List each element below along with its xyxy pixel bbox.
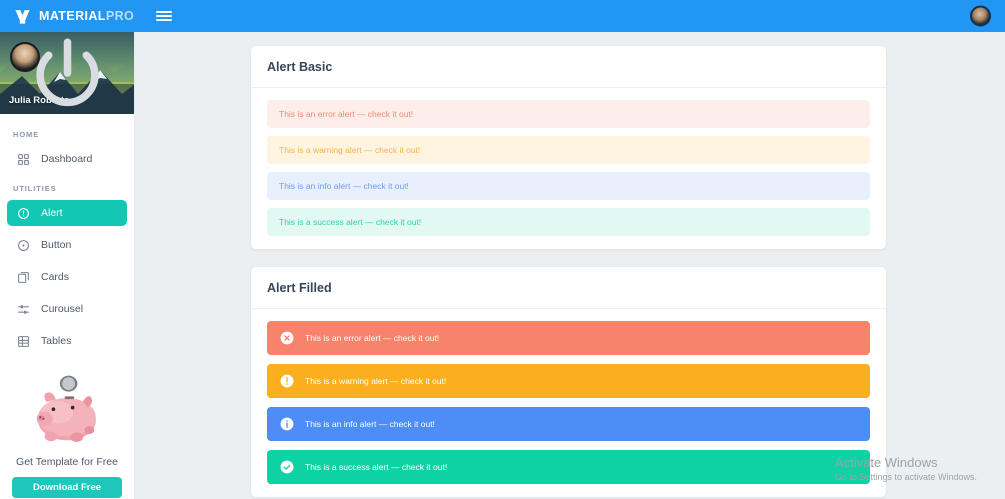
dashboard-grid-icon (17, 153, 30, 166)
sidebar-item-label: Dashboard (41, 153, 92, 165)
alert-basic-info: This is an info alert — check it out! (267, 172, 870, 200)
alert-text: This is an error alert — check it out! (305, 333, 439, 343)
sidebar-item-button[interactable]: Button (7, 232, 127, 258)
alert-filled-warning: This is a warning alert — check it out! (267, 364, 870, 398)
sidebar: Julia Roberts HOME Dashboard UTILITIES (0, 32, 135, 499)
button-circle-icon (17, 239, 30, 252)
nav-section-label-home: HOME (7, 124, 127, 146)
brand-name-light: PRO (106, 9, 134, 23)
top-header: MATERIALPRO (0, 0, 1005, 32)
alert-filled-success: This is a success alert — check it out! (267, 450, 870, 484)
table-grid-icon (17, 335, 30, 348)
sidebar-item-alert[interactable]: Alert (7, 200, 127, 226)
error-x-circle-icon (280, 331, 294, 345)
warning-exclamation-circle-icon (280, 374, 294, 388)
brand[interactable]: MATERIALPRO (14, 8, 134, 25)
sidebar-item-dashboard[interactable]: Dashboard (7, 146, 127, 172)
sidebar-item-cards[interactable]: Cards (7, 264, 127, 290)
sidebar-item-label: Cards (41, 271, 69, 283)
sidebar-item-label: Alert (41, 207, 63, 219)
alert-basic-warning: This is a warning alert — check it out! (267, 136, 870, 164)
card-alert-basic: Alert Basic This is an error alert — che… (251, 46, 886, 249)
profile-banner: Julia Roberts (0, 32, 135, 114)
nav-section-label-utilities: UTILITIES (7, 178, 127, 200)
alert-filled-error: This is an error alert — check it out! (267, 321, 870, 355)
sliders-icon (17, 303, 30, 316)
card-alert-filled: Alert Filled This is an error alert — ch… (251, 267, 886, 497)
card-body: This is an error alert — check it out! T… (251, 88, 886, 249)
promo-text: Get Template for Free (12, 456, 122, 468)
alert-text: This is a success alert — check it out! (305, 462, 447, 472)
promo-block: Get Template for Free Download Free Chec… (0, 360, 134, 499)
brand-name-strong: MATERIAL (39, 9, 106, 23)
cards-icon (17, 271, 30, 284)
alert-text: This is a warning alert — check it out! (305, 376, 446, 386)
card-title: Alert Basic (251, 46, 886, 88)
brand-text: MATERIALPRO (39, 9, 134, 23)
alert-filled-info: This is an info alert — check it out! (267, 407, 870, 441)
app-root: MATERIALPRO (0, 0, 1005, 499)
sidebar-item-label: Tables (41, 335, 71, 347)
power-icon[interactable] (0, 32, 135, 114)
alert-basic-success: This is a success alert — check it out! (267, 208, 870, 236)
alert-basic-error: This is an error alert — check it out! (267, 100, 870, 128)
sidebar-item-tables[interactable]: Tables (7, 328, 127, 354)
info-circle-icon (280, 417, 294, 431)
header-user-avatar[interactable] (970, 6, 991, 27)
sidebar-item-label: Curousel (41, 303, 83, 315)
card-body: This is an error alert — check it out! T… (251, 309, 886, 497)
alert-text: This is an info alert — check it out! (305, 419, 435, 429)
wing-logo-icon (14, 8, 31, 25)
sidebar-item-curousel[interactable]: Curousel (7, 296, 127, 322)
sidebar-nav: HOME Dashboard UTILITIES Alert (0, 114, 134, 354)
download-free-button[interactable]: Download Free (12, 477, 122, 498)
card-title: Alert Filled (251, 267, 886, 309)
hamburger-menu-icon[interactable] (156, 8, 172, 23)
success-check-circle-icon (280, 460, 294, 474)
alert-circle-icon (17, 207, 30, 220)
sidebar-item-label: Button (41, 239, 71, 251)
main-content[interactable]: Alert Basic This is an error alert — che… (135, 32, 1005, 499)
piggy-bank-icon (27, 374, 107, 450)
